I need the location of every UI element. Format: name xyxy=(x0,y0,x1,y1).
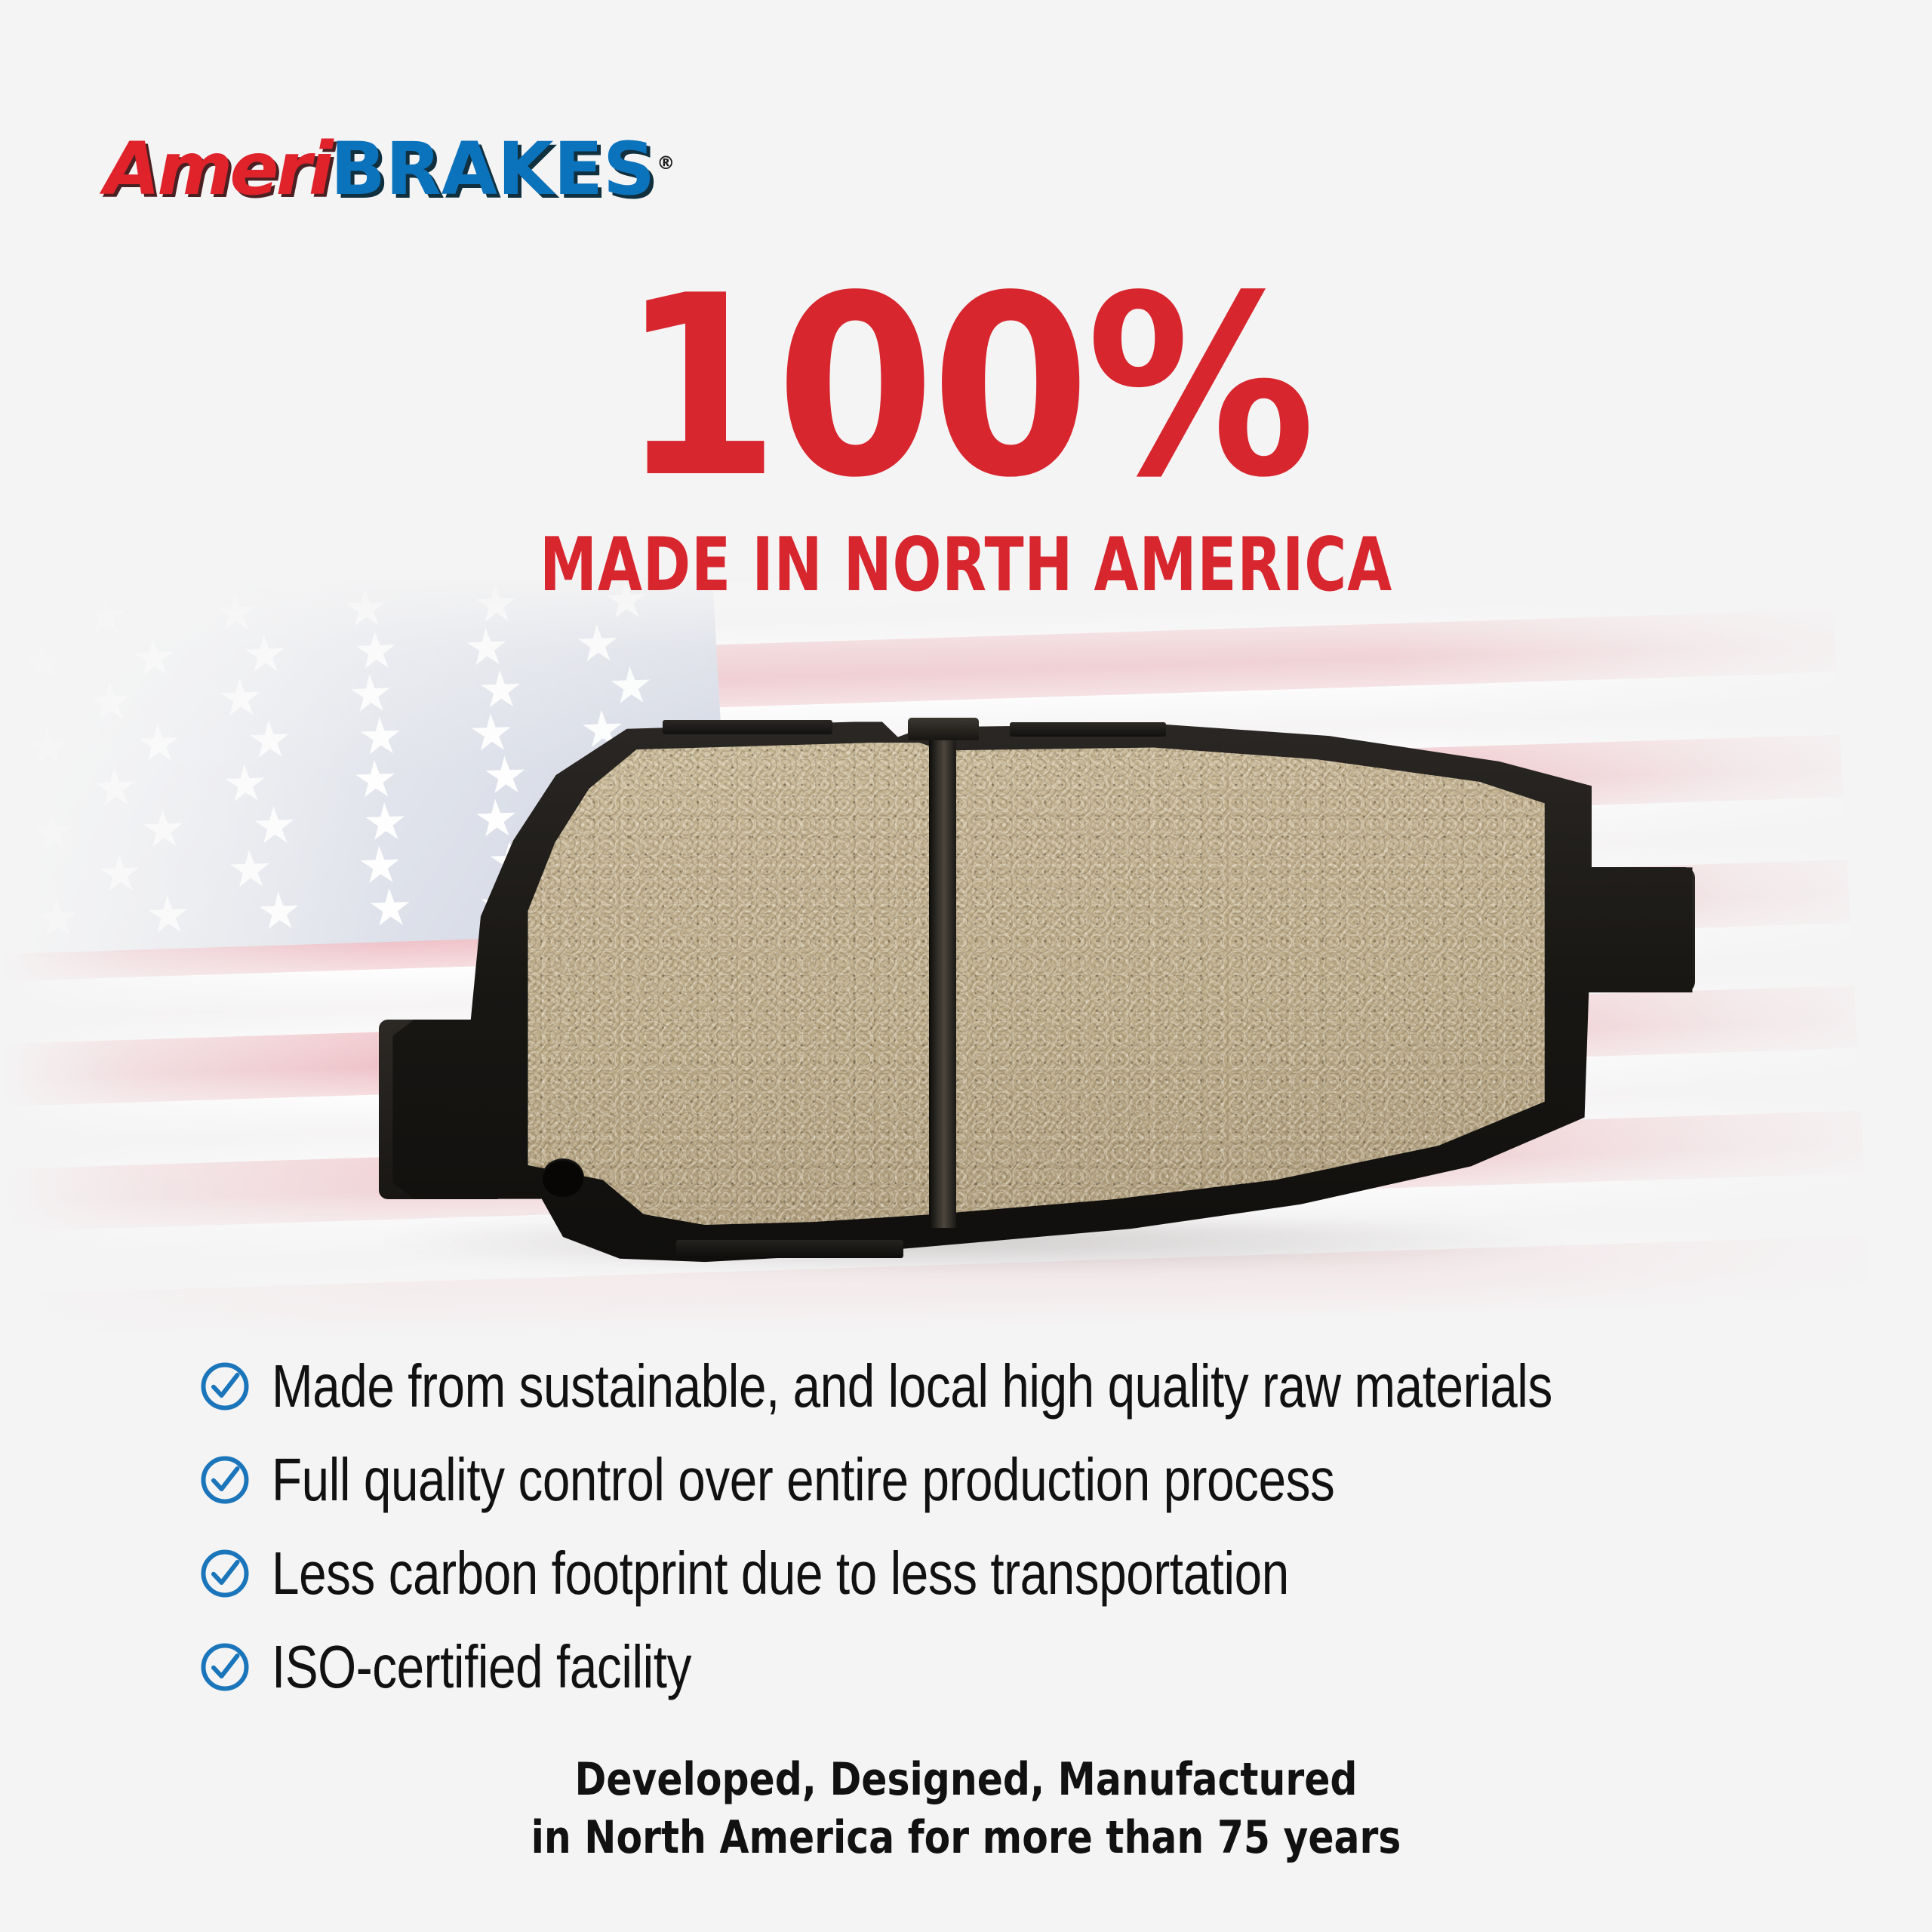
check-circle-icon xyxy=(198,1359,252,1414)
list-item: ISO-certified facility xyxy=(198,1633,1783,1701)
list-item-label: Full quality control over entire product… xyxy=(272,1450,1334,1510)
flag-star xyxy=(94,768,137,810)
flag-star xyxy=(26,727,69,769)
flag-star xyxy=(128,574,171,594)
registered-trademark-icon: ® xyxy=(657,152,673,174)
brand-logo[interactable]: AmeriBRAKES® xyxy=(104,133,673,205)
flag-star xyxy=(349,673,392,715)
flag-star xyxy=(354,630,397,672)
flag-star xyxy=(17,574,60,597)
list-item-label: ISO-certified facility xyxy=(272,1637,691,1697)
flag-star xyxy=(229,849,272,891)
check-circle-icon xyxy=(198,1453,252,1507)
flag-star xyxy=(99,853,142,895)
logo-text-ameri: Ameri xyxy=(104,127,331,211)
feature-list: Made from sustainable, and local high qu… xyxy=(198,1352,1783,1727)
pad-center-slot xyxy=(929,723,956,1229)
check-circle-icon xyxy=(198,1546,252,1601)
flag-star xyxy=(132,638,175,680)
footer-line-2: in North America for more than 75 years xyxy=(155,1809,1777,1867)
pad-mounting-hole xyxy=(542,1158,584,1198)
headline-percent: 100% xyxy=(77,263,1854,512)
brake-pad-product-image xyxy=(279,721,1698,1264)
list-item: Made from sustainable, and local high qu… xyxy=(198,1352,1783,1420)
flag-star xyxy=(224,763,267,805)
flag-star xyxy=(243,634,286,676)
flag-star xyxy=(479,669,522,712)
flag-star xyxy=(146,894,189,937)
list-item: Full quality control over entire product… xyxy=(198,1446,1783,1514)
flag-star xyxy=(142,809,185,851)
flag-star xyxy=(576,623,619,666)
pad-top-tab-left xyxy=(663,720,833,734)
flag-star xyxy=(219,678,262,720)
flag-star xyxy=(21,641,64,683)
pad-center-slot-cap xyxy=(908,718,979,740)
flag-star xyxy=(35,898,78,940)
list-item-label: Less carbon footprint due to less transp… xyxy=(272,1543,1289,1604)
flag-star xyxy=(137,723,180,765)
flag-star xyxy=(465,627,508,669)
pad-top-tab-right xyxy=(1010,722,1166,737)
footer-line-1: Developed, Designed, Manufactured xyxy=(155,1751,1777,1809)
flag-star xyxy=(31,812,74,854)
flag-star xyxy=(609,666,652,708)
flag-star xyxy=(84,596,127,638)
headline-subtitle: MADE IN NORTH AMERICA xyxy=(213,528,1720,602)
flag-stripe xyxy=(0,610,1836,731)
pad-bottom-tab xyxy=(676,1240,903,1258)
logo-text-brakes: BRAKES xyxy=(331,127,656,211)
list-item: Less carbon footprint due to less transp… xyxy=(198,1540,1783,1607)
list-item-label: Made from sustainable, and local high qu… xyxy=(272,1356,1552,1417)
footer-text: Developed, Designed, Manufactured in Nor… xyxy=(0,1751,1932,1867)
flag-star xyxy=(89,681,132,724)
check-circle-icon xyxy=(198,1640,252,1694)
